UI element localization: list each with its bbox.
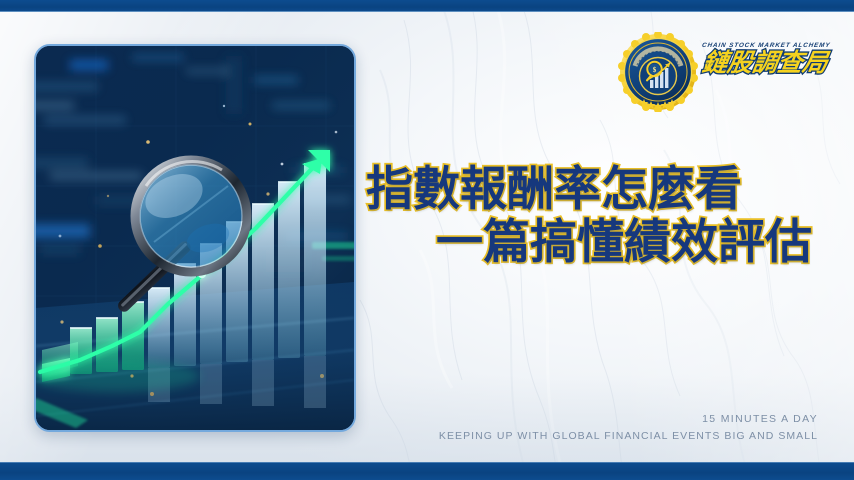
logo-english-name: CHAIN STOCK MARKET ALCHEMY <box>701 42 828 49</box>
title-line-1: 指數報酬率怎麼看 <box>366 163 812 216</box>
thumbnail-canvas: $ CHAIN STOCK MARKET ALCHEMY 鏈股調查局 指數報酬率… <box>0 0 854 480</box>
hero-image-card <box>34 44 356 432</box>
svg-text:$: $ <box>653 66 657 74</box>
top-accent-bar <box>0 0 854 12</box>
title-line-2: 一篇搞懂績效評估 <box>366 216 812 269</box>
tagline: 15 MINUTES A DAY KEEPING UP WITH GLOBAL … <box>439 411 818 444</box>
tagline-line-1: 15 MINUTES A DAY <box>439 411 818 427</box>
investigation-bureau-seal-icon: $ <box>618 32 698 112</box>
logo-wordmark: CHAIN STOCK MARKET ALCHEMY 鏈股調查局 <box>702 42 828 77</box>
bottom-accent-bar <box>0 462 854 480</box>
magnifier-over-growth-chart-illustration <box>36 46 354 430</box>
page-title: 指數報酬率怎麼看 一篇搞懂績效評估 <box>366 163 812 268</box>
brand-logo[interactable]: $ CHAIN STOCK MARKET ALCHEMY 鏈股調查局 <box>618 30 828 116</box>
logo-chinese-name: 鏈股調查局 <box>700 50 830 77</box>
tagline-line-2: KEEPING UP WITH GLOBAL FINANCIAL EVENTS … <box>439 428 818 444</box>
